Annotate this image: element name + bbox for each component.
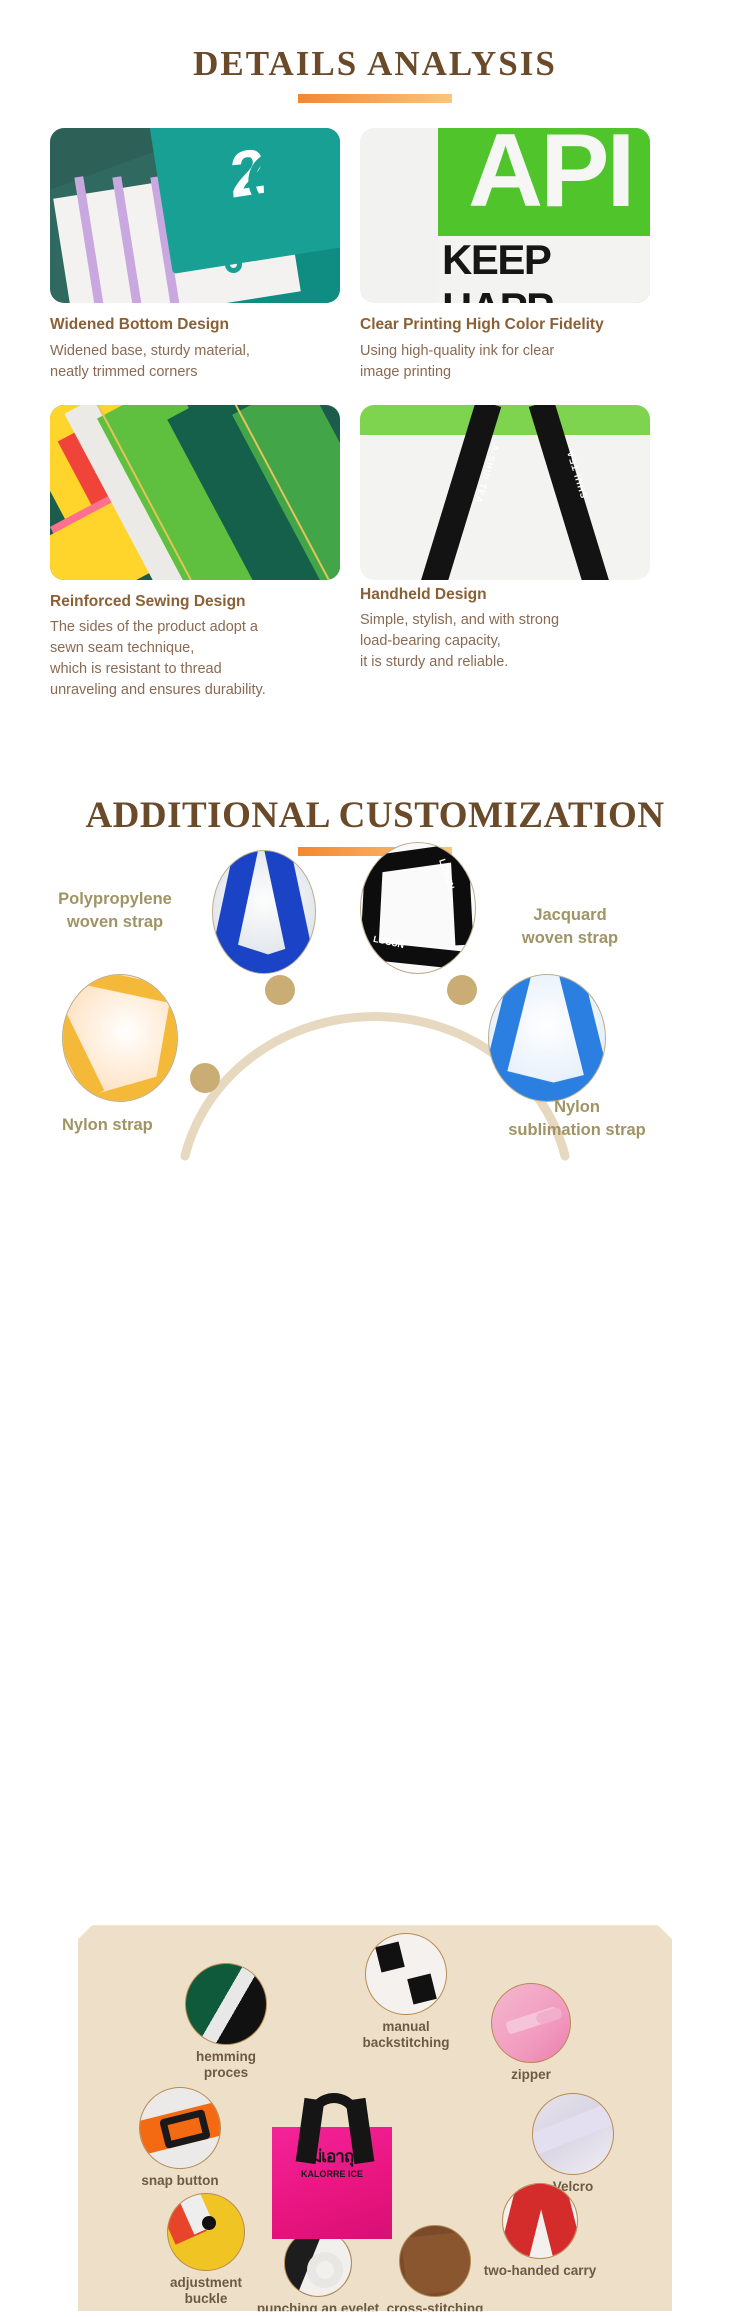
strap-label-nylon-sublimation: Nylon sublimation strap [462, 1096, 692, 1141]
bag-sub-text: KALORRE ICE [280, 2169, 384, 2179]
customization-section: ADDITIONAL CUSTOMIZATION Polypropylene w… [0, 797, 750, 1166]
polypropylene-strap-photo [212, 850, 316, 974]
customization-title: ADDITIONAL CUSTOMIZATION [0, 797, 750, 834]
detail-body: Using high-quality ink for clear image p… [360, 341, 650, 383]
handheld-design-photo: A-SHUI TEA SHUI TEA [360, 405, 650, 580]
pink-tote-bag: ไม่เอาถุง KALORRE ICE [272, 2097, 392, 2247]
feature-label: manual backstitching [346, 2019, 466, 2051]
feature-label: two-handed carry [460, 2263, 620, 2279]
feature-item-snap-button: snap button [120, 2087, 240, 2189]
adjustment-buckle-photo [167, 2193, 245, 2271]
title-underline-bar [298, 94, 452, 103]
detail-card-clear-printing: API KEEP HAPP Clear Printing High Color … [360, 128, 650, 383]
nylon-sublimation-strap-photo [488, 974, 606, 1102]
detail-card-widened-bottom: 2 Widened Bottom Design Widened base, st… [50, 128, 340, 383]
detail-card-reinforced-sewing: Reinforced Sewing Design The sides of th… [50, 405, 340, 702]
feature-label: zipper [476, 2067, 586, 2083]
details-section-header: DETAILS ANALYSIS [0, 0, 750, 103]
strap-arc-area: Polypropylene woven strap LOSUN LOSUN Ja… [0, 856, 750, 1166]
manual-backstitching-photo [365, 1933, 447, 2015]
strap-label-nylon: Nylon strap [22, 1114, 202, 1136]
page-title: DETAILS ANALYSIS [0, 0, 750, 81]
feature-label: snap button [120, 2173, 240, 2189]
detail-heading: Widened Bottom Design [50, 316, 340, 335]
zipper-photo [491, 1983, 571, 2063]
detail-body: Widened base, sturdy material, neatly tr… [50, 341, 340, 383]
feature-label: hemming proces [176, 2049, 276, 2081]
velcro-photo [532, 2093, 614, 2175]
feature-item-backstitching: manual backstitching [346, 1933, 466, 2051]
detail-heading: Handheld Design [360, 586, 650, 605]
reinforced-sewing-photo [50, 405, 340, 580]
feature-item-hemming: hemming proces [176, 1963, 276, 2081]
feature-label: cross-stitching [360, 2301, 510, 2317]
hemming-process-photo [185, 1963, 267, 2045]
snap-button-photo [139, 2087, 221, 2169]
widened-bottom-photo: 2 [50, 128, 340, 303]
customization-section-header: ADDITIONAL CUSTOMIZATION [0, 797, 750, 856]
details-grid-row2: Reinforced Sewing Design The sides of th… [50, 405, 700, 702]
clear-printing-photo: API KEEP HAPP [360, 128, 650, 303]
feature-item-two-handed-carry: two-handed carry [460, 2183, 620, 2279]
feature-item-velcro: Velcro [518, 2093, 628, 2195]
detail-heading: Clear Printing High Color Fidelity [360, 316, 650, 335]
strap-label-polypropylene: Polypropylene woven strap [40, 888, 190, 933]
strap-label-jacquard: Jacquard woven strap [480, 904, 660, 949]
detail-body: Simple, stylish, and with strong load-be… [360, 610, 650, 673]
detail-body: The sides of the product adopt a sewn se… [50, 617, 340, 701]
details-grid: 2 Widened Bottom Design Widened base, st… [50, 128, 700, 383]
two-handed-carry-photo [502, 2183, 578, 2259]
nylon-strap-photo [62, 974, 178, 1102]
detail-heading: Reinforced Sewing Design [50, 593, 340, 612]
features-panel: hemming proces manual backstitching zipp… [78, 1925, 672, 2311]
feature-item-zipper: zipper [476, 1983, 586, 2083]
jacquard-strap-photo: LOSUN LOSUN [360, 842, 476, 974]
detail-card-handheld: A-SHUI TEA SHUI TEA Handheld Design Simp… [360, 405, 650, 702]
